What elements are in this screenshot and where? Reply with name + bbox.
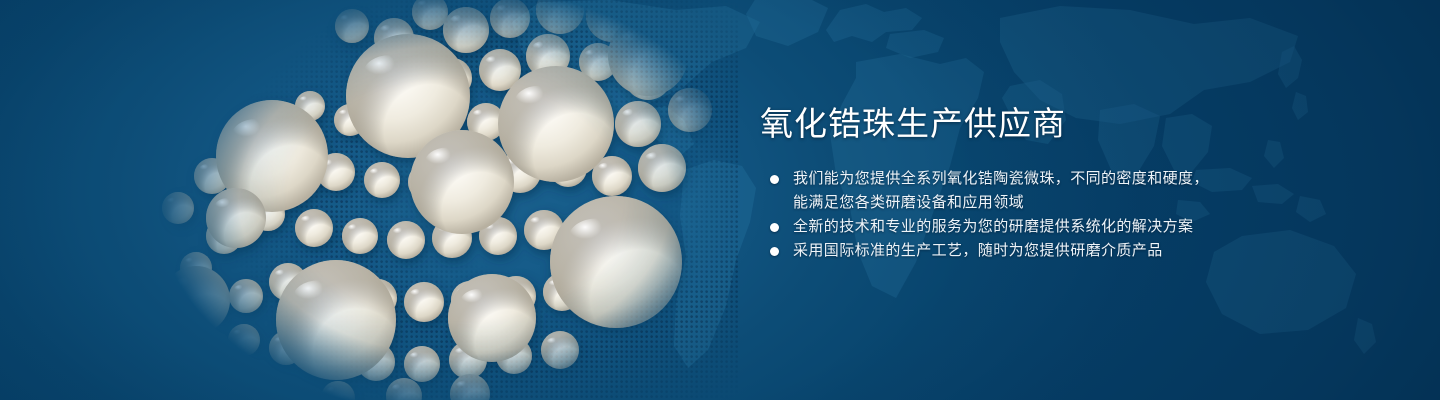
list-item-line-2: 能满足您各类研磨设备和应用领域 xyxy=(793,191,1320,215)
list-item: 我们能为您提供全系列氧化锆陶瓷微珠，不同的密度和硬度， 能满足您各类研磨设备和应… xyxy=(760,167,1320,215)
feature-list: 我们能为您提供全系列氧化锆陶瓷微珠，不同的密度和硬度， 能满足您各类研磨设备和应… xyxy=(760,167,1320,263)
list-item-line-1: 采用国际标准的生产工艺，随时为您提供研磨介质产品 xyxy=(793,239,1320,263)
bullet-dot-icon xyxy=(770,247,779,256)
list-item: 全新的技术和专业的服务为您的研磨提供系统化的解决方案 xyxy=(760,215,1320,239)
zirconia-beads-image xyxy=(0,0,780,400)
hero-banner: 氧化锆珠生产供应商 我们能为您提供全系列氧化锆陶瓷微珠，不同的密度和硬度， 能满… xyxy=(0,0,1440,400)
list-item-line-1: 全新的技术和专业的服务为您的研磨提供系统化的解决方案 xyxy=(793,215,1320,239)
list-item-line-1: 我们能为您提供全系列氧化锆陶瓷微珠，不同的密度和硬度， xyxy=(793,167,1320,191)
bullet-dot-icon xyxy=(770,223,779,232)
banner-copy: 氧化锆珠生产供应商 我们能为您提供全系列氧化锆陶瓷微珠，不同的密度和硬度， 能满… xyxy=(760,104,1320,263)
list-item: 采用国际标准的生产工艺，随时为您提供研磨介质产品 xyxy=(760,239,1320,263)
page-title: 氧化锆珠生产供应商 xyxy=(760,104,1320,144)
bullet-dot-icon xyxy=(770,175,779,184)
